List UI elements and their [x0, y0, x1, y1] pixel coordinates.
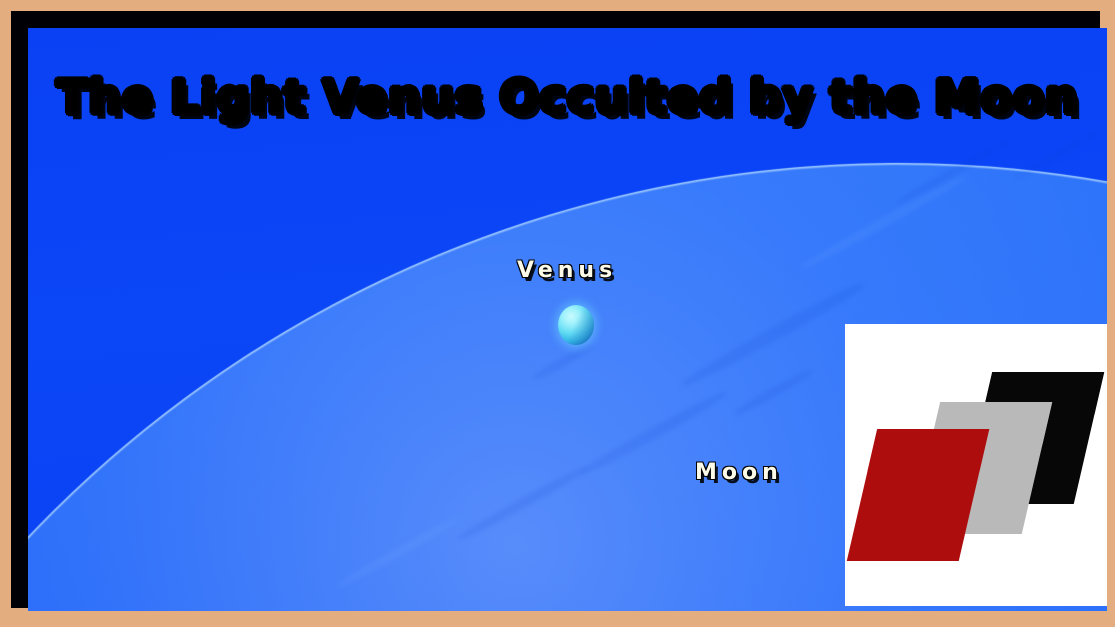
page-title-text: The Light Venus Occulted by the Moon: [57, 70, 1079, 124]
venus-terminator-shading: [558, 305, 594, 345]
label-moon: Moon: [695, 460, 783, 485]
triple-t-logo: [845, 324, 1107, 606]
inner-bevel-border: The Light Venus Occulted by the Moon Ven…: [11, 11, 1100, 608]
label-venus: Venus: [517, 258, 617, 283]
outer-frame: The Light Venus Occulted by the Moon Ven…: [0, 0, 1115, 627]
page-title: The Light Venus Occulted by the Moon: [28, 70, 1107, 124]
photo-stage: The Light Venus Occulted by the Moon Ven…: [28, 28, 1107, 611]
triple-t-logo-card: [845, 324, 1107, 606]
venus-disc: [558, 305, 594, 345]
logo-letter-t-red: [847, 429, 989, 561]
